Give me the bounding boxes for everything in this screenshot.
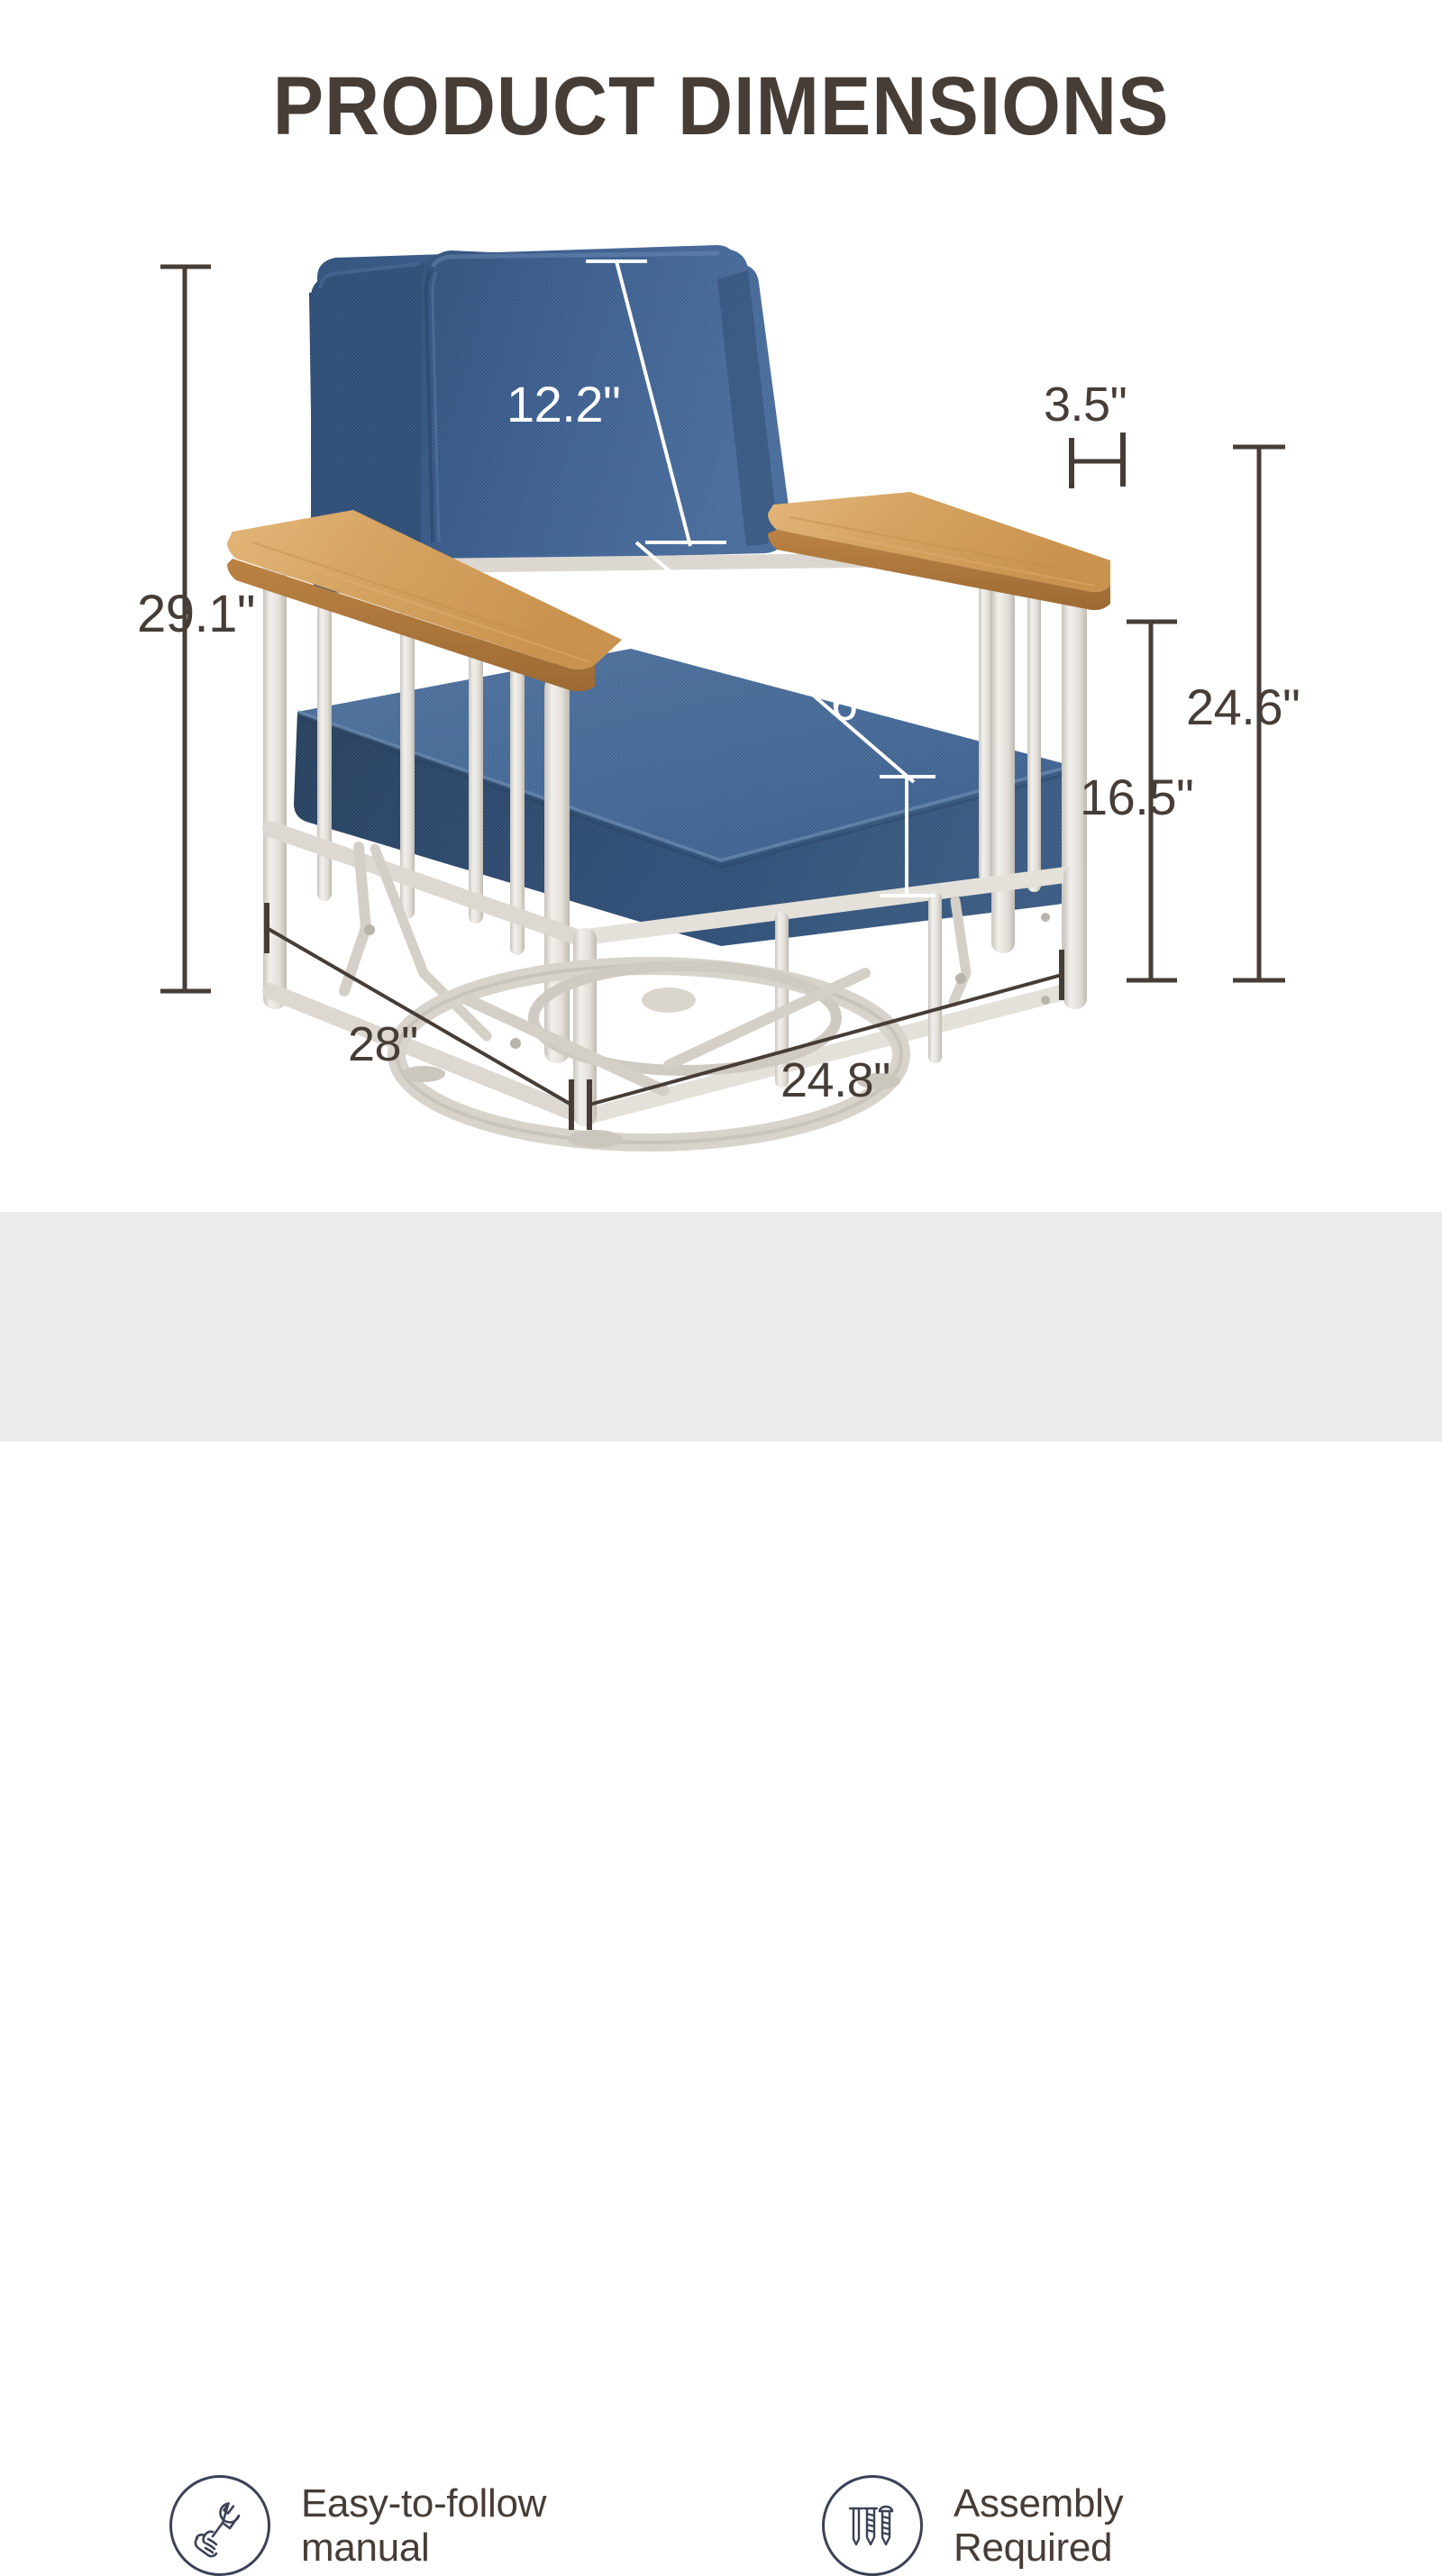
dimension-label-back-cushion-height: 12.2" <box>507 375 620 433</box>
backrest-assembly <box>0 135 1442 1207</box>
feature-assembly-required: Assembly Required <box>822 2475 1123 2576</box>
product-illustration <box>0 135 1442 1207</box>
feature-band: Easy-to-follow manual <box>0 1212 1442 1442</box>
feature-line-2: Required <box>954 2526 1123 2570</box>
dimension-label-seat-height: 16.5" <box>1080 768 1193 826</box>
dimension-label-base-width: 24.8" <box>780 1052 890 1108</box>
hand-wrench-icon <box>169 2475 270 2576</box>
dimension-label-overall-height: 29.1" <box>137 584 255 644</box>
dimension-label-seat-cushion-thickness: 6" <box>831 676 874 732</box>
feature-line-1: Easy-to-follow <box>301 2481 546 2526</box>
feature-text-easy-manual: Easy-to-follow manual <box>301 2481 546 2571</box>
feature-text-assembly-required: Assembly Required <box>954 2481 1123 2571</box>
dimension-label-seat-depth: 19.7" <box>662 586 771 642</box>
dimension-label-armrest-width: 3.5" <box>1044 377 1127 432</box>
feature-easy-manual: Easy-to-follow manual <box>169 2475 546 2576</box>
dimension-label-base-depth: 28" <box>348 1016 418 1072</box>
feature-line-2: manual <box>301 2526 546 2570</box>
product-dimensions-infographic: PRODUCT DIMENSIONS <box>0 0 1442 1442</box>
dimension-label-overall-depth: 24.6" <box>1186 678 1300 736</box>
screws-icon <box>822 2475 923 2576</box>
feature-line-1: Assembly <box>954 2481 1123 2526</box>
